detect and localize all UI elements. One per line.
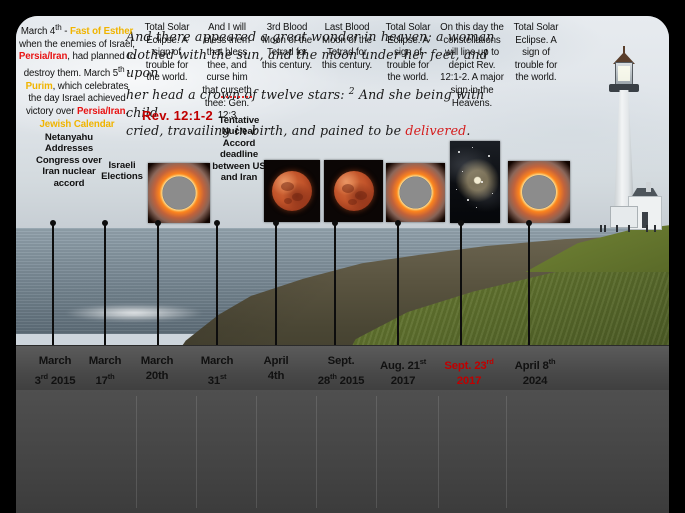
date-label-5: April4th [247,354,305,384]
description-eclipse-2: Total Solar Eclipse. A sign of trouble f… [380,22,436,85]
description-genesis-12-3: And I will bless them that bless thee, a… [198,22,256,123]
connector-line-7 [397,223,399,345]
date-label-4: March31st [188,354,246,389]
word-delivered: delivered [405,123,466,138]
solar-eclipse-image-1 [148,163,210,223]
slide-root: And there appeared a great wonder in hea… [0,0,685,513]
description-blood-moon-last: Last Blood Moon of the Tetrad for this c… [320,22,374,72]
date-label-3: March20th [128,354,186,384]
surf-foam [64,304,204,322]
date-label-9: April 8th2024 [500,354,570,389]
connector-line-4 [216,223,218,345]
description-panel [16,390,669,513]
blood-moon-image-1 [264,160,320,222]
event-caption-accord: Tentative Nuclear Accord deadline betwee… [210,115,268,183]
date-label-2: March17th [76,354,134,389]
solar-eclipse-image-3 [508,161,570,223]
description-eclipse-1: Total Solar Eclipse. A sign of trouble f… [140,22,194,85]
date-label-6: Sept.28th 2015 [304,354,378,389]
solar-eclipse-image-2 [386,163,445,222]
event-caption-elections: Israeli Elections [98,160,146,183]
event-caption-netanyahu: Netanyahu Addresses Congress over Iran n… [30,132,108,189]
description-constellations: On this day the constellations will line… [440,22,504,110]
description-blood-moon-3: 3rd Blood Moon of the Tetrad for this ce… [260,22,314,72]
connector-line-9 [528,223,530,345]
connector-line-3 [157,223,159,345]
description-eclipse-3: Total Solar Eclipse. A sign of trouble f… [508,22,564,85]
photo-frame: And there appeared a great wonder in hea… [16,16,669,513]
connector-line-5 [275,223,277,345]
constellation-chart-image [450,141,500,223]
lighthouse-photo [594,46,664,236]
description-march-4-purim: March 4th - Fast of Esther when the enem… [18,22,136,131]
connector-line-6 [334,223,336,345]
date-label-7: Aug. 21st2017 [368,354,438,389]
blood-moon-image-2 [324,160,383,222]
date-label-8: Sept. 23rd2017 [434,354,504,389]
timeline-date-bar: March3rd 2015 March17th March20th March3… [16,345,669,392]
scripture-line-4: cried, travailing in birth, and pained t… [126,122,506,140]
connector-line-1 [52,223,54,345]
connector-line-8 [460,223,462,345]
connector-line-2 [104,223,106,345]
